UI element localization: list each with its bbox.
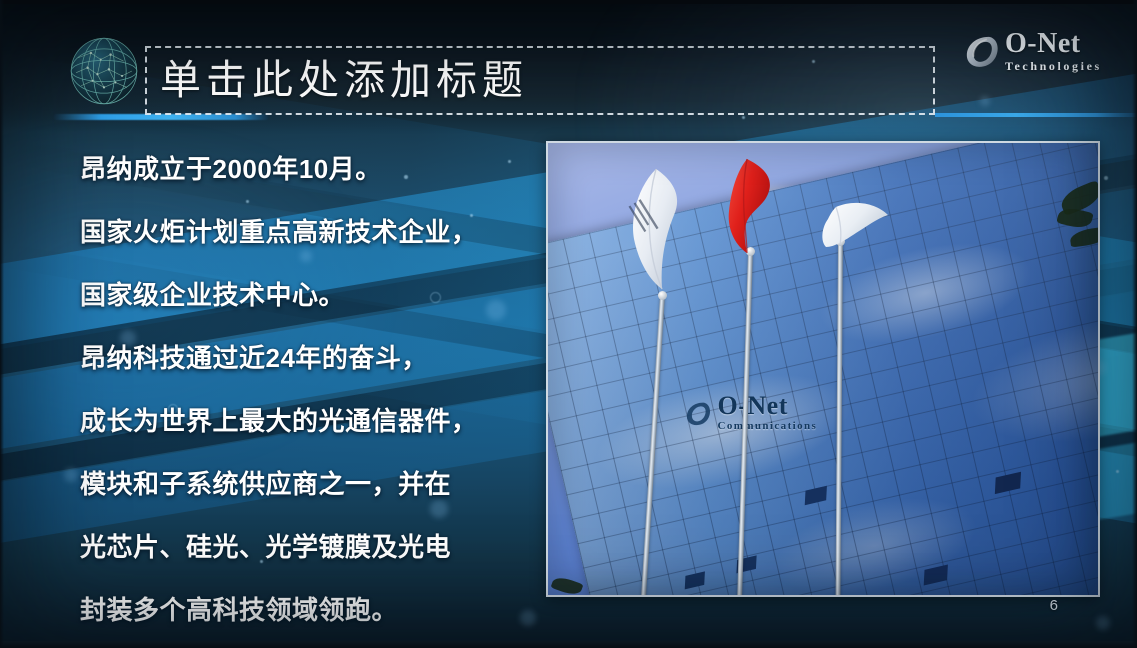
brand-logo: O-Net Technologies <box>961 24 1121 78</box>
building-signage: O-Net Communications <box>683 393 818 432</box>
o-net-swoosh-icon <box>961 31 1001 71</box>
body-line: 昂纳成立于2000年10月。 <box>80 138 550 201</box>
building-sign-name: O-Net <box>718 393 818 419</box>
page-title[interactable]: 单击此处添加标题 <box>160 47 528 113</box>
slide-edge-bottom <box>0 641 1137 648</box>
slide-edge-top <box>0 0 1137 4</box>
header-accent-bar-right <box>935 113 1137 117</box>
body-line: 成长为世界上最大的光通信器件， <box>80 390 550 453</box>
white-flag <box>800 189 896 269</box>
body-text-block[interactable]: 昂纳成立于2000年10月。 国家火炬计划重点高新技术企业， 国家级企业技术中心… <box>80 138 550 642</box>
white-flag <box>604 163 704 303</box>
red-flag <box>703 151 791 271</box>
slide: 单击此处添加标题 O-Net Technologies 昂纳成立于 <box>0 0 1137 648</box>
building-sign-tagline: Communications <box>718 421 818 432</box>
logo-tagline: Technologies <box>1005 60 1102 72</box>
body-line: 昂纳科技通过近24年的奋斗， <box>80 327 550 390</box>
logo-name: O-Net <box>1005 30 1102 58</box>
page-number: 6 <box>1050 597 1058 614</box>
body-line: 封装多个高科技领域领跑。 <box>80 579 550 642</box>
slide-edge-right <box>1132 0 1137 648</box>
body-line: 光芯片、硅光、光学镀膜及光电 <box>80 516 550 579</box>
slide-edge-left <box>0 0 4 648</box>
o-net-swoosh-icon <box>683 398 713 428</box>
body-line: 国家级企业技术中心。 <box>80 264 550 327</box>
building-photo[interactable]: O-Net Communications <box>546 141 1100 597</box>
wireframe-globe-icon <box>63 30 145 112</box>
body-line: 国家火炬计划重点高新技术企业， <box>80 201 550 264</box>
body-line: 模块和子系统供应商之一，并在 <box>80 453 550 516</box>
